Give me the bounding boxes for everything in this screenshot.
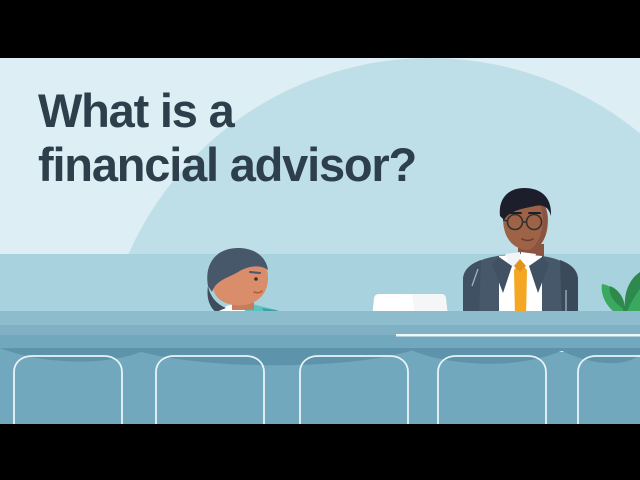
letterbox-bar-bottom xyxy=(0,424,640,480)
desk-front-highlight xyxy=(0,325,640,335)
illustration-scene: RIA xyxy=(0,58,640,424)
letterbox-bar-top xyxy=(0,0,640,58)
desk-top-edge xyxy=(0,311,640,325)
reception-desk xyxy=(0,311,640,424)
video-frame: RIA xyxy=(0,0,640,480)
desk-accent-line xyxy=(396,334,640,337)
desk-front-body xyxy=(0,325,640,424)
client-eye xyxy=(254,277,258,281)
advisor-glasses-temple xyxy=(503,220,508,221)
scene-artwork: RIA xyxy=(0,58,640,424)
client-eyebrow xyxy=(250,272,260,273)
